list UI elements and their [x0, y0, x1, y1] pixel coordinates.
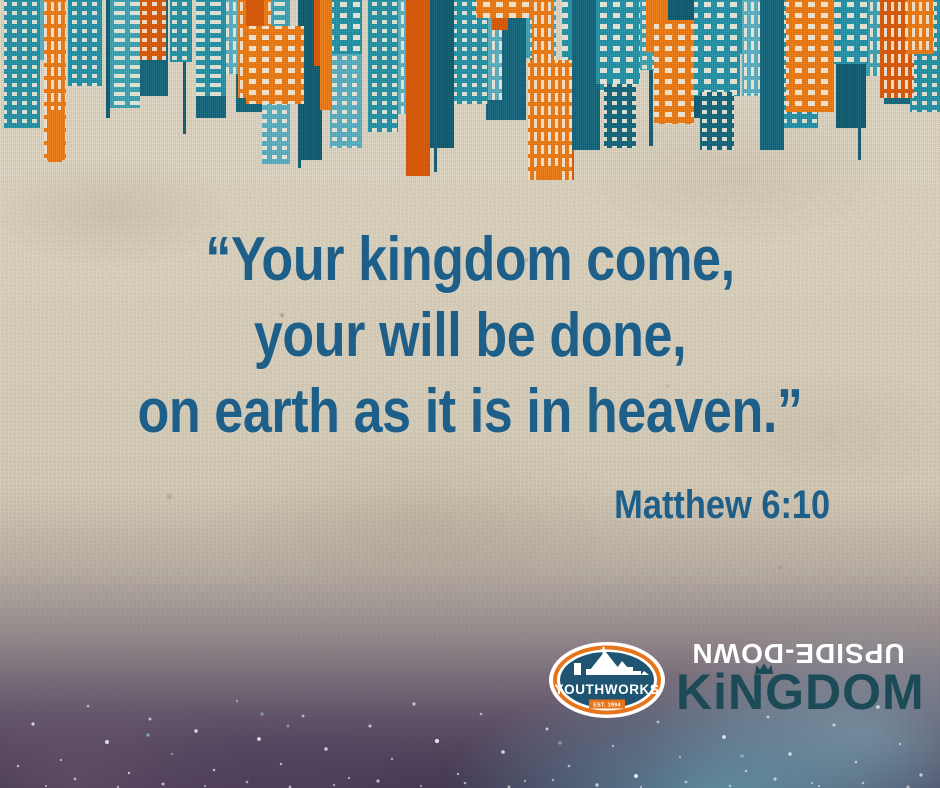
scripture-quote: “Your kingdom come, your will be done, o… [0, 222, 940, 450]
badge-brand-text: YOUTHWORKS [555, 682, 660, 697]
quote-line-1: “Your kingdom come, [75, 222, 865, 298]
badge-est-text: EST. 1994 [593, 703, 621, 709]
wordmark-kingdom: KiNGDOM [676, 666, 920, 718]
quote-line-3: on earth as it is in heaven.” [75, 374, 865, 450]
quote-line-2: your will be done, [75, 298, 865, 374]
skyline-illustration [0, 0, 940, 180]
youthworks-badge[interactable]: YOUTHWORKS EST. 1994 [548, 641, 666, 719]
crown-icon [754, 663, 774, 675]
upside-down-kingdom-wordmark[interactable]: UPSIDE-DOWN KiNGDOM [676, 637, 920, 723]
poster-canvas: “Your kingdom come, your will be done, o… [0, 0, 940, 788]
logo-lockup[interactable]: YOUTHWORKS EST. 1994 UPSIDE-DOWN KiNGDOM [548, 637, 920, 723]
scripture-reference: Matthew 6:10 [0, 482, 940, 528]
scripture-reference-text: Matthew 6:10 [614, 482, 830, 528]
